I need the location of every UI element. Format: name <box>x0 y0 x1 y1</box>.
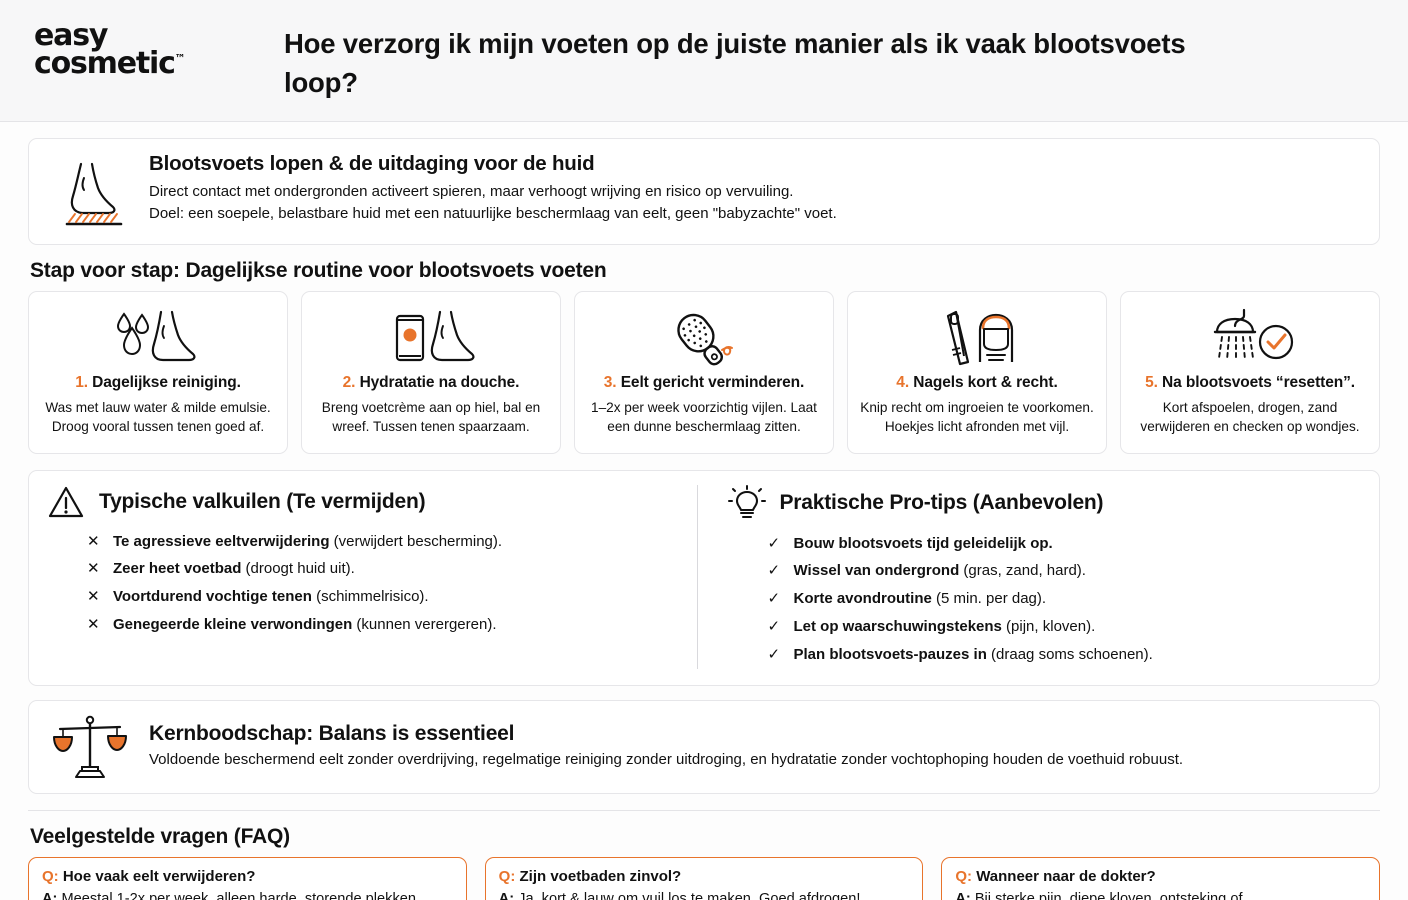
step-card-3: 3. Eelt gericht verminderen. 1–2x per we… <box>574 291 834 454</box>
faq-card-1: Q: Hoe vaak eelt verwijderen? A: Meestal… <box>28 857 467 900</box>
pitfall-4-bold: Genegeerde kleine verwondingen <box>113 616 352 633</box>
step-4-number: 4. <box>896 374 909 391</box>
list-item: ✕Genegeerde kleine verwondingen (kunnen … <box>87 611 681 639</box>
list-item: ✕Voortdurend vochtige tenen (schimmelris… <box>87 584 681 612</box>
protip-4-bold: Let op waarschuwingstekens <box>794 618 1002 635</box>
cross-icon: ✕ <box>87 531 102 554</box>
step-card-4: 4. Nagels kort & recht. Knip recht om in… <box>847 291 1107 454</box>
list-item: ✓Korte avondroutine (5 min. per dag). <box>768 586 1362 614</box>
step-1-heading: 1. Dagelijkse reiniging. <box>75 374 241 392</box>
step-3-body: 1–2x per week voorzichtig vijlen. Laat e… <box>585 398 823 437</box>
protip-2-bold: Wissel van ondergrond <box>794 562 960 579</box>
pitfalls-title: Typische valkuilen (Te vermijden) <box>99 490 425 514</box>
step-3-number: 3. <box>604 374 617 391</box>
faq-1-question: Q: Hoe vaak eelt verwijderen? <box>42 868 453 885</box>
check-icon: ✓ <box>768 588 783 611</box>
faq-2-answer-text: Ja, kort & lauw om vuil los te maken. Go… <box>518 891 860 900</box>
step-1-body: Was met lauw water & milde emulsie. Droo… <box>39 398 277 437</box>
faq-row: Q: Hoe vaak eelt verwijderen? A: Meestal… <box>28 857 1380 900</box>
pitfalls-list: ✕Te agressieve eeltverwijdering (verwijd… <box>47 528 681 639</box>
intro-title: Blootsvoets lopen & de uitdaging voor de… <box>149 152 837 176</box>
trademark-symbol: ™ <box>175 52 186 65</box>
step-5-title: Na blootsvoets “resetten”. <box>1162 374 1355 391</box>
brand-logo-line2: cosmetic™ <box>34 50 186 78</box>
step-4-heading: 4. Nagels kort & recht. <box>896 374 1057 392</box>
barefoot-on-ground-icon <box>47 152 133 230</box>
panels-card: Typische valkuilen (Te vermijden) ✕Te ag… <box>28 470 1380 686</box>
faq-3-answer: A: Bij sterke pijn, diepe kloven, ontste… <box>955 889 1366 900</box>
check-icon: ✓ <box>768 533 783 556</box>
protip-1-bold: Bouw blootsvoets tijd geleidelijk op. <box>794 535 1053 552</box>
faq-1-answer: A: Meestal 1-2x per week, alleen harde, … <box>42 889 453 900</box>
core-message-title: Kernboodschap: Balans is essentieel <box>149 722 1183 746</box>
faq-card-3: Q: Wanneer naar de dokter? A: Bij sterke… <box>941 857 1380 900</box>
faq-3-question: Q: Wanneer naar de dokter? <box>955 868 1366 885</box>
shower-check-icon <box>1189 304 1311 370</box>
list-item: ✓Plan blootsvoets-pauzes in (draag soms … <box>768 641 1362 669</box>
protip-5-rest: (draag soms schoenen). <box>987 646 1153 663</box>
faq-2-answer: A: Ja, kort & lauw om vuil los te maken.… <box>499 889 910 900</box>
check-icon: ✓ <box>768 560 783 583</box>
pitfall-2-bold: Zeer heet voetbad <box>113 560 241 577</box>
pitfall-1-bold: Te agressieve eeltverwijdering <box>113 533 330 550</box>
cross-icon: ✕ <box>87 558 102 581</box>
protip-5-bold: Plan blootsvoets-pauzes in <box>794 646 987 663</box>
step-5-number: 5. <box>1145 374 1158 391</box>
step-5-heading: 5. Na blootsvoets “resetten”. <box>1145 374 1355 392</box>
list-item: ✓Bouw blootsvoets tijd geleidelijk op. <box>768 530 1362 558</box>
cream-tube-foot-icon <box>370 304 492 370</box>
step-5-body: Kort afspoelen, drogen, zand verwijderen… <box>1131 398 1369 437</box>
step-4-title: Nagels kort & recht. <box>913 374 1057 391</box>
cross-icon: ✕ <box>87 614 102 637</box>
faq-1-answer-text: Meestal 1-2x per week, alleen harde, sto… <box>61 891 420 900</box>
intro-text: Blootsvoets lopen & de uitdaging voor de… <box>149 152 837 230</box>
water-drops-foot-icon <box>97 304 219 370</box>
faq-q-label: Q: <box>499 868 516 885</box>
faq-divider <box>28 810 1380 811</box>
pitfall-2-rest: (droogt huid uit). <box>241 560 354 577</box>
pitfalls-header: Typische valkuilen (Te vermijden) <box>47 485 681 519</box>
protip-2-rest: (gras, zand, hard). <box>959 562 1086 579</box>
check-icon: ✓ <box>768 616 783 639</box>
faq-3-question-text: Wanneer naar de dokter? <box>976 868 1156 885</box>
faq-a-label: A: <box>955 891 970 900</box>
step-2-heading: 2. Hydratatie na douche. <box>343 374 520 392</box>
step-4-body: Knip recht om ingroeien te voorkomen. Ho… <box>858 398 1096 437</box>
steps-section-title: Stap voor stap: Dagelijkse routine voor … <box>30 259 1380 283</box>
core-message-card: Kernboodschap: Balans is essentieel Vold… <box>28 700 1380 794</box>
faq-section-title: Veelgestelde vragen (FAQ) <box>30 825 1380 849</box>
protips-panel: Praktische Pro-tips (Aanbevolen) ✓Bouw b… <box>697 485 1362 669</box>
protips-list: ✓Bouw blootsvoets tijd geleidelijk op. ✓… <box>728 530 1362 669</box>
warning-triangle-icon <box>47 485 85 519</box>
step-card-2: 2. Hydratatie na douche. Breng voetcrème… <box>301 291 561 454</box>
brand-logo: easy cosmetic™ <box>34 14 284 78</box>
infographic-page: easy cosmetic™ Hoe verzorg ik mijn voete… <box>0 0 1408 900</box>
intro-line-2: Doel: een soepele, belastbare huid met e… <box>149 203 837 225</box>
faq-1-question-text: Hoe vaak eelt verwijderen? <box>63 868 256 885</box>
step-3-title: Eelt gericht verminderen. <box>621 374 805 391</box>
nail-clipper-toe-icon <box>916 304 1038 370</box>
step-card-5: 5. Na blootsvoets “resetten”. Kort afspo… <box>1120 291 1380 454</box>
page-header: easy cosmetic™ Hoe verzorg ik mijn voete… <box>0 0 1408 122</box>
steps-row: 1. Dagelijkse reiniging. Was met lauw wa… <box>28 291 1380 454</box>
pitfall-3-bold: Voortdurend vochtige tenen <box>113 588 312 605</box>
step-2-number: 2. <box>343 374 356 391</box>
faq-3-answer-text: Bij sterke pijn, diepe kloven, ontstekin… <box>955 891 1242 900</box>
faq-2-question: Q: Zijn voetbaden zinvol? <box>499 868 910 885</box>
step-2-title: Hydratatie na douche. <box>360 374 520 391</box>
list-item: ✕Zeer heet voetbad (droogt huid uit). <box>87 556 681 584</box>
step-3-heading: 3. Eelt gericht verminderen. <box>604 374 805 392</box>
faq-q-label: Q: <box>42 868 59 885</box>
intro-card: Blootsvoets lopen & de uitdaging voor de… <box>28 138 1380 245</box>
step-1-title: Dagelijkse reiniging. <box>92 374 241 391</box>
cross-icon: ✕ <box>87 586 102 609</box>
core-message-text: Kernboodschap: Balans is essentieel Vold… <box>149 722 1183 771</box>
protips-title: Praktische Pro-tips (Aanbevolen) <box>780 491 1104 515</box>
step-2-body: Breng voetcrème aan op hiel, bal en wree… <box>312 398 550 437</box>
faq-q-label: Q: <box>955 868 972 885</box>
faq-a-label: A: <box>499 891 514 900</box>
page-title: Hoe verzorg ik mijn voeten op de juiste … <box>284 14 1244 102</box>
balance-scale-icon <box>47 713 133 779</box>
faq-card-2: Q: Zijn voetbaden zinvol? A: Ja, kort & … <box>485 857 924 900</box>
core-message-body: Voldoende beschermend eelt zonder overdr… <box>149 749 1183 771</box>
lightbulb-icon <box>728 485 766 521</box>
check-icon: ✓ <box>768 644 783 667</box>
pitfall-4-rest: (kunnen verergeren). <box>352 616 496 633</box>
list-item: ✓Wissel van ondergrond (gras, zand, hard… <box>768 558 1362 586</box>
faq-a-label: A: <box>42 891 57 900</box>
protips-header: Praktische Pro-tips (Aanbevolen) <box>728 485 1362 521</box>
foot-rasp-file-icon <box>643 304 765 370</box>
pitfall-1-rest: (verwijdert bescherming). <box>330 533 503 550</box>
protip-3-rest: (5 min. per dag). <box>932 590 1046 607</box>
step-1-number: 1. <box>75 374 88 391</box>
list-item: ✕Te agressieve eeltverwijdering (verwijd… <box>87 528 681 556</box>
protip-4-rest: (pijn, kloven). <box>1002 618 1095 635</box>
list-item: ✓Let op waarschuwingstekens (pijn, klove… <box>768 613 1362 641</box>
faq-2-question-text: Zijn voetbaden zinvol? <box>520 868 682 885</box>
protip-3-bold: Korte avondroutine <box>794 590 932 607</box>
step-card-1: 1. Dagelijkse reiniging. Was met lauw wa… <box>28 291 288 454</box>
intro-line-1: Direct contact met ondergronden activeer… <box>149 181 837 203</box>
pitfall-3-rest: (schimmelrisico). <box>312 588 429 605</box>
pitfalls-panel: Typische valkuilen (Te vermijden) ✕Te ag… <box>47 485 697 669</box>
page-body: Blootsvoets lopen & de uitdaging voor de… <box>0 138 1408 900</box>
